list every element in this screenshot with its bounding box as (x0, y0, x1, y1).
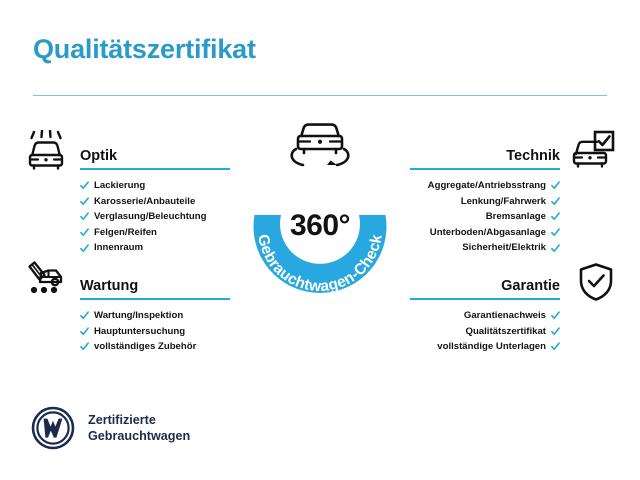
checklist-garantie: Garantienachweis Qualitätszertifikat vol… (410, 308, 560, 355)
footer-line-1: Zertifizierte (88, 412, 190, 428)
list-item-label: Verglasung/Beleuchtung (94, 209, 206, 225)
footer-brand: Zertifizierte Gebrauchtwagen (31, 406, 190, 450)
section-optik: Optik Lackierung Karosserie/Anbauteile V… (80, 138, 230, 256)
section-divider (410, 168, 560, 170)
shiny-car-icon (24, 130, 68, 172)
title-divider (33, 95, 607, 96)
list-item-label: Unterboden/Abgasanlage (430, 225, 546, 241)
checklist-technik: Aggregate/Antriebsstrang Lenkung/Fahrwer… (410, 178, 560, 256)
section-divider (80, 168, 230, 170)
list-item: Qualitätszertifikat (410, 324, 560, 340)
check-icon (551, 244, 560, 253)
section-title: Optik (80, 148, 117, 164)
badge-degrees: 360° (228, 209, 412, 243)
section-header-technik: Technik (410, 138, 560, 172)
check-icon (551, 228, 560, 237)
check-icon (80, 342, 89, 351)
list-item: Aggregate/Antriebsstrang (410, 178, 560, 194)
list-item: Karosserie/Anbauteile (80, 194, 230, 210)
list-item-label: vollständige Unterlagen (437, 339, 546, 355)
check-icon (80, 327, 89, 336)
vw-logo-icon (31, 406, 75, 450)
shield-check-icon (578, 262, 614, 302)
checklist-wartung: Wartung/Inspektion Hauptuntersuchung vol… (80, 308, 230, 355)
list-item-label: vollständiges Zubehör (94, 339, 196, 355)
section-header-wartung: Wartung (80, 268, 230, 302)
footer-brand-text: Zertifizierte Gebrauchtwagen (88, 412, 190, 444)
check-icon (551, 181, 560, 190)
footer-line-2: Gebrauchtwagen (88, 428, 190, 444)
section-wartung: Wartung Wartung/Inspektion Hauptuntersuc… (80, 268, 230, 355)
checklist-optik: Lackierung Karosserie/Anbauteile Verglas… (80, 178, 230, 256)
certificate-page: Qualitätszertifikat Optik (0, 0, 640, 480)
check-icon (551, 327, 560, 336)
list-item-label: Sicherheit/Elektrik (462, 240, 546, 256)
car-checkbox-icon (570, 130, 616, 170)
list-item-label: Garantienachweis (464, 308, 546, 324)
list-item: Lenkung/Fahrwerk (410, 194, 560, 210)
list-item: vollständige Unterlagen (410, 339, 560, 355)
section-header-garantie: Garantie (410, 268, 560, 302)
section-title: Garantie (501, 278, 560, 294)
list-item: Unterboden/Abgasanlage (410, 225, 560, 241)
list-item: Garantienachweis (410, 308, 560, 324)
check-icon (551, 197, 560, 206)
list-item-label: Lackierung (94, 178, 145, 194)
section-garantie: Garantie Garantienachweis Qualitätszerti… (410, 268, 560, 355)
check-icon (80, 244, 89, 253)
check-icon (551, 212, 560, 221)
list-item-label: Hauptuntersuchung (94, 324, 185, 340)
section-technik: Technik Aggregate/Antriebsstrang Lenkung… (410, 138, 560, 256)
list-item: Lackierung (80, 178, 230, 194)
section-header-optik: Optik (80, 138, 230, 172)
list-item-label: Felgen/Reifen (94, 225, 157, 241)
list-item: Bremsanlage (410, 209, 560, 225)
list-item: Hauptuntersuchung (80, 324, 230, 340)
section-title: Technik (506, 148, 560, 164)
section-divider (80, 298, 230, 300)
check-icon (80, 311, 89, 320)
list-item-label: Karosserie/Anbauteile (94, 194, 195, 210)
list-item: Sicherheit/Elektrik (410, 240, 560, 256)
list-item: Innenraum (80, 240, 230, 256)
section-divider (410, 298, 560, 300)
check-icon (80, 181, 89, 190)
check-icon (551, 342, 560, 351)
list-item-label: Wartung/Inspektion (94, 308, 183, 324)
check-icon (80, 212, 89, 221)
list-item-label: Innenraum (94, 240, 143, 256)
list-item-label: Aggregate/Antriebsstrang (428, 178, 546, 194)
check-icon (80, 197, 89, 206)
list-item: vollständiges Zubehör (80, 339, 230, 355)
check-icon (551, 311, 560, 320)
list-item: Verglasung/Beleuchtung (80, 209, 230, 225)
list-item-label: Bremsanlage (486, 209, 546, 225)
list-item: Felgen/Reifen (80, 225, 230, 241)
section-title: Wartung (80, 278, 138, 294)
page-title: Qualitätszertifikat (33, 34, 256, 65)
list-item: Wartung/Inspektion (80, 308, 230, 324)
oil-service-car-icon (24, 260, 68, 300)
badge-360-gebrauchtwagen-check: Gebrauchtwagen-Check 360° (228, 115, 412, 305)
list-item-label: Qualitätszertifikat (465, 324, 546, 340)
list-item-label: Lenkung/Fahrwerk (461, 194, 546, 210)
check-icon (80, 228, 89, 237)
